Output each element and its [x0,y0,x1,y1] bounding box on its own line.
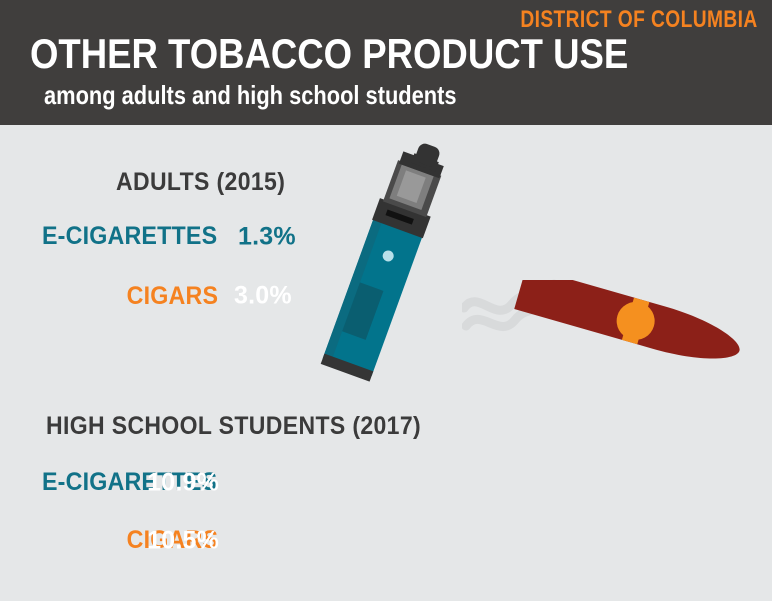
bar-label-adults-cigars: CIGARS [126,284,228,309]
page-title: OTHER TOBACCO PRODUCT USE [30,33,628,75]
bar-row-adults-ecigarettes: E-CIGARETTES 1.3% [228,210,248,263]
bar-value-adults-cigars: 3.0% [234,284,292,309]
cigar-icon [505,280,755,395]
header-banner: DISTRICT OF COLUMBIA OTHER TOBACCO PRODU… [0,0,772,125]
bar-row-adults-cigars: CIGARS 3.0% [228,269,281,323]
bar-label-adults-ecigarettes: E-CIGARETTES [42,224,228,249]
section-title-high-school: HIGH SCHOOL STUDENTS (2017) [46,412,421,441]
cigar-svg [505,280,755,395]
section-title-adults: ADULTS (2015) [116,168,285,197]
infographic-canvas: DISTRICT OF COLUMBIA OTHER TOBACCO PRODU… [0,0,772,601]
bar-value-high-school-ecigarettes: 10.9% [147,470,219,495]
bar-value-adults-ecigarettes: 1.3% [238,224,296,249]
e-cigarette-icon [316,135,456,386]
page-subtitle: among adults and high school students [44,82,457,108]
bar-value-high-school-cigars: 10.5% [147,528,219,553]
bar-row-high-school-ecigarettes: E-CIGARETTES 10.9% [228,456,405,509]
bar-row-high-school-cigars: CIGARS 10.5% [228,515,398,566]
